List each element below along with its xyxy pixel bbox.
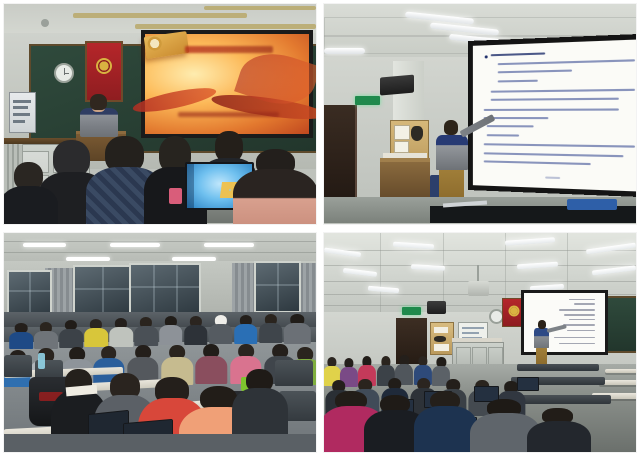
- window: [254, 261, 302, 313]
- ceiling-speaker: [427, 301, 446, 314]
- photo-panel-top-left[interactable]: [3, 3, 317, 225]
- ceiling-light: [324, 48, 365, 54]
- photo-panel-top-right[interactable]: [323, 3, 637, 225]
- student-front: [530, 408, 586, 452]
- gold-star-icon: [508, 306, 519, 317]
- ceiling-light: [110, 243, 160, 247]
- water-bottle: [38, 353, 44, 368]
- slide-title-bar: [185, 46, 273, 53]
- ceiling-light: [66, 257, 110, 261]
- exit-sign-icon: [402, 307, 421, 315]
- floor: [4, 434, 316, 452]
- photo-collage: [0, 0, 640, 456]
- window: [73, 265, 133, 315]
- scene-packed-auditorium: [4, 233, 316, 453]
- seat: [4, 355, 32, 377]
- lecturer-torso: [436, 135, 467, 170]
- ceiling-beam: [73, 13, 248, 18]
- photo-panel-bottom-left[interactable]: [3, 232, 317, 454]
- lecturer-cap-icon: [444, 120, 458, 134]
- scene-classroom-lecturer: [324, 4, 636, 224]
- framed-poster: [9, 92, 36, 134]
- speaker-cap-icon: [90, 94, 107, 110]
- exit-sign-icon: [355, 96, 380, 105]
- front-counter: [452, 338, 502, 342]
- slide-content: [472, 39, 636, 193]
- slide-footer-bar: [178, 112, 279, 117]
- ceiling-beam: [204, 6, 316, 10]
- clock-hand: [64, 73, 69, 75]
- laptop[interactable]: [517, 377, 539, 390]
- taskbar: [187, 164, 194, 208]
- student-front: [235, 369, 285, 439]
- gold-star-icon: [96, 58, 112, 74]
- ceiling-light: [23, 243, 67, 247]
- ceiling-beam: [135, 24, 316, 29]
- papers-on-lectern: [383, 153, 427, 157]
- projection-screen: [141, 30, 313, 138]
- student-front: [418, 391, 474, 452]
- speaker-torso: [80, 108, 117, 137]
- curtain: [232, 263, 254, 311]
- slide-content: [145, 34, 309, 134]
- audience-person: [4, 162, 54, 223]
- red-flag: [85, 41, 123, 102]
- lecturer-head: [538, 320, 546, 329]
- window: [129, 263, 202, 315]
- cup: [169, 188, 181, 203]
- ceiling-light: [204, 243, 254, 247]
- ceiling-light: [172, 257, 216, 261]
- scene-lecture-hall-front: [4, 4, 316, 224]
- audience-person: [235, 149, 316, 224]
- book: [567, 199, 617, 210]
- scene-classroom-rear-view: [324, 233, 636, 453]
- window: [7, 270, 52, 318]
- ceiling-projector: [468, 281, 490, 296]
- desk-row: [605, 369, 636, 373]
- photo-panel-bottom-right[interactable]: [323, 232, 637, 454]
- ceiling-speaker: [380, 75, 414, 96]
- book-graphic: [144, 31, 189, 59]
- doorway: [324, 105, 357, 197]
